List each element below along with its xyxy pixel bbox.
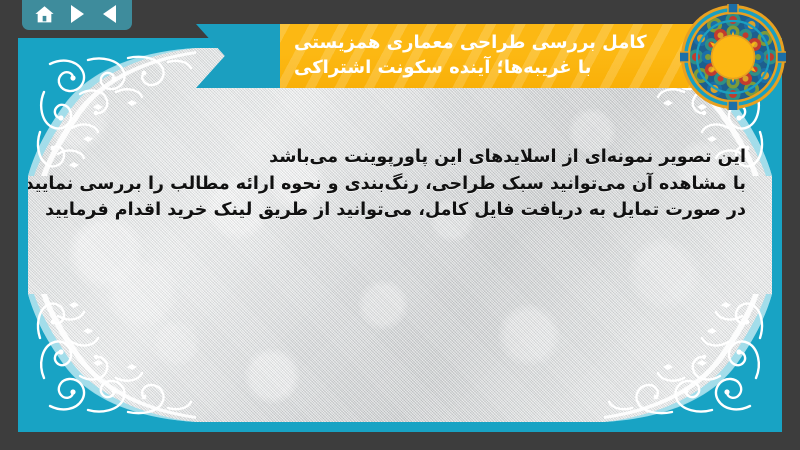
slide-frame: این تصویر نمونه‌ای از اسلایدهای این پاور… xyxy=(18,38,782,432)
bokeh-circle xyxy=(244,348,300,404)
triangle-right-icon xyxy=(71,5,84,23)
previous-slide-button[interactable] xyxy=(97,2,123,26)
bokeh-circle xyxy=(68,214,144,290)
arabesque-corner-ornament xyxy=(604,294,772,422)
body-line: با مشاهده آن می‌توانید سبک طراحی، رنگ‌بن… xyxy=(54,171,746,198)
triangle-left-icon xyxy=(103,5,116,23)
bokeh-circle xyxy=(154,320,200,366)
slide-viewer-window: این تصویر نمونه‌ای از اسلایدهای این پاور… xyxy=(0,0,800,450)
body-line: در صورت تمایل به دریافت فایل کامل، می‌تو… xyxy=(54,197,746,224)
bokeh-circle xyxy=(498,304,560,366)
slide-canvas: این تصویر نمونه‌ای از اسلایدهای این پاور… xyxy=(28,48,772,422)
slide-navigation-bar xyxy=(22,0,132,30)
next-slide-button[interactable] xyxy=(64,2,90,26)
bokeh-circle xyxy=(106,256,178,328)
home-icon xyxy=(34,4,55,25)
bokeh-circle xyxy=(358,280,408,330)
bokeh-circle xyxy=(628,238,700,310)
home-button[interactable] xyxy=(31,2,57,26)
bokeh-circle xyxy=(44,86,110,152)
body-line: این تصویر نمونه‌ای از اسلایدهای این پاور… xyxy=(54,144,746,171)
slide-texture-overlay xyxy=(28,48,772,422)
arabesque-corner-ornament xyxy=(28,294,196,422)
slide-body-text: این تصویر نمونه‌ای از اسلایدهای این پاور… xyxy=(54,144,746,224)
